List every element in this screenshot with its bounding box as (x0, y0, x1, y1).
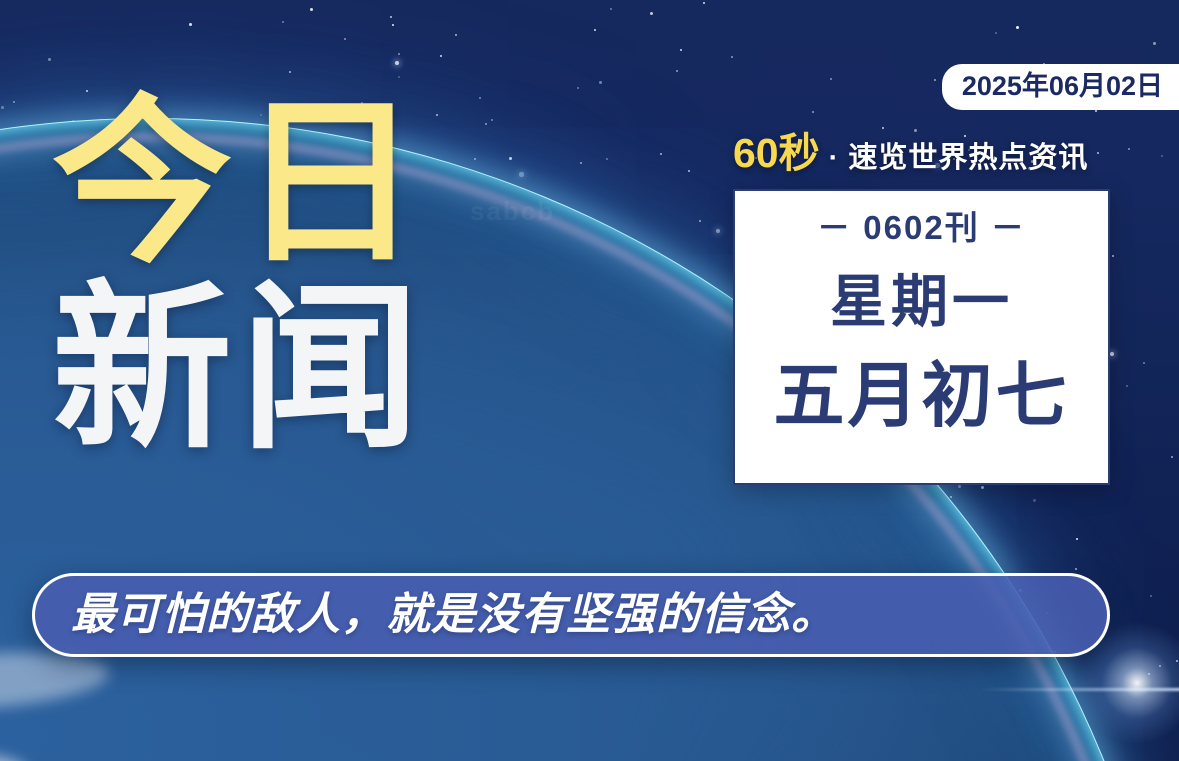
date-badge: 2025年06月02日 (942, 64, 1179, 110)
page-title: 今日 新闻 (52, 96, 428, 459)
issue-number: － 0602刊 － (817, 211, 1026, 244)
title-line-news: 新闻 (52, 282, 428, 458)
weekday-label: 星期一 (830, 274, 1013, 331)
quote-bar: 最可怕的敌人，就是没有坚强的信念。 (32, 573, 1110, 657)
tagline-rest: · 速览世界热点资讯 (829, 144, 1089, 173)
info-card: － 0602刊 － 星期一 五月初七 (733, 189, 1110, 485)
tagline-seconds: 60秒 (733, 133, 820, 174)
news-poster: sabcb 2025年06月02日 今日 新闻 60秒 · 速览世界热点资讯 －… (0, 0, 1179, 761)
tagline: 60秒 · 速览世界热点资讯 (733, 133, 1110, 174)
right-panel: 60秒 · 速览世界热点资讯 － 0602刊 － 星期一 五月初七 (733, 133, 1110, 485)
title-line-today: 今日 (52, 96, 428, 272)
quote-text: 最可怕的敌人，就是没有坚强的信念。 (35, 593, 836, 637)
lunar-date: 五月初七 (773, 361, 1069, 432)
